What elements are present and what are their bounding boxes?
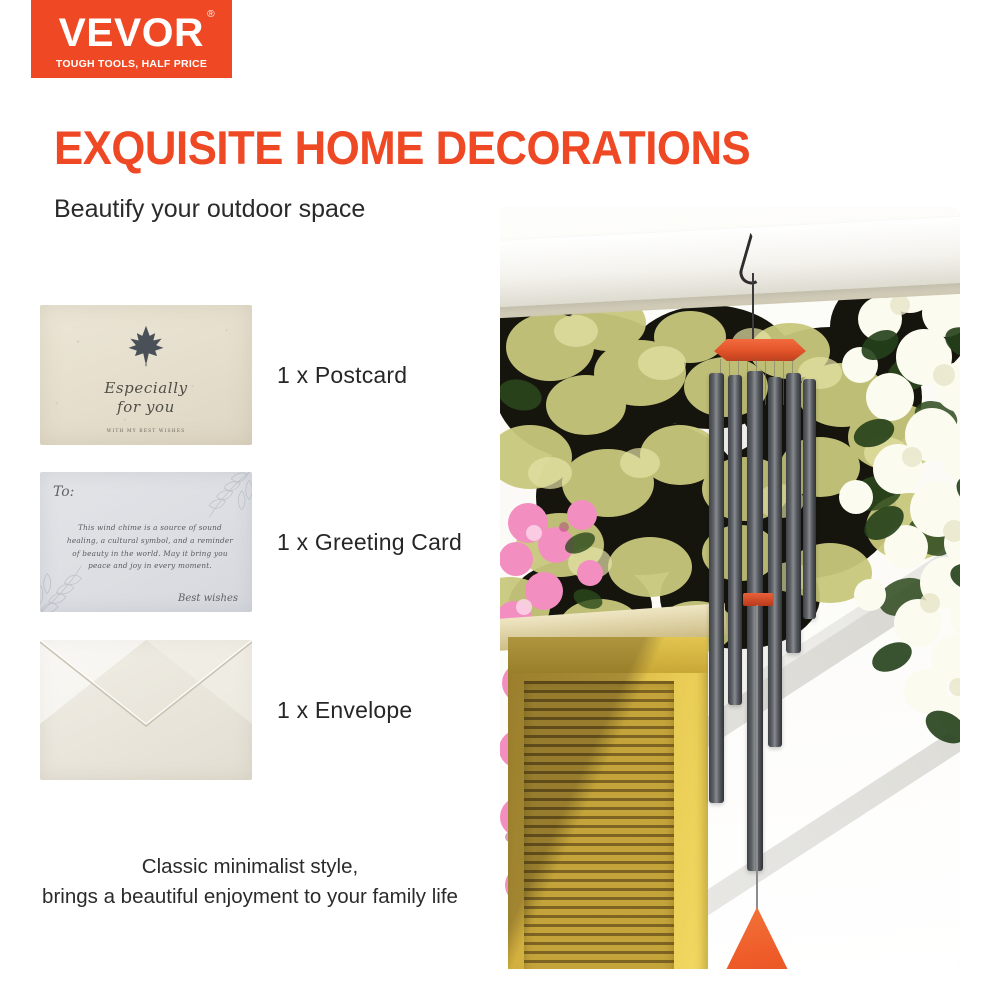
chime-tube xyxy=(768,377,782,747)
greeting-card-to-label: To: xyxy=(53,484,74,500)
postcard-script-line2: for you xyxy=(40,398,252,417)
chime-tube xyxy=(709,373,724,803)
chime-top-disc xyxy=(714,339,806,361)
greeting-card-image: To: This wind chime is a source of sound… xyxy=(40,472,252,612)
chime-tube xyxy=(803,379,816,619)
list-item: To: This wind chime is a source of sound… xyxy=(40,472,480,612)
greeting-card-message: This wind chime is a source of sound hea… xyxy=(66,522,234,573)
scene-yellow-shutter xyxy=(508,637,708,969)
postcard-image: Especially for you WITH MY BEST WISHES xyxy=(40,305,252,445)
shutter-shadow xyxy=(508,637,708,969)
chime-tube xyxy=(747,371,763,871)
accessory-label-envelope: 1 x Envelope xyxy=(277,697,412,724)
list-item: 1 x Envelope xyxy=(40,640,480,780)
accessory-label-greeting-card: 1 x Greeting Card xyxy=(277,529,462,556)
greeting-card-signoff: Best wishes xyxy=(178,593,238,604)
envelope-image xyxy=(40,640,252,780)
accessory-label-postcard: 1 x Postcard xyxy=(277,362,407,389)
postcard-fineprint: WITH MY BEST WISHES xyxy=(40,429,252,434)
chime-tube xyxy=(786,373,801,653)
chime-clapper xyxy=(743,593,773,606)
footer-caption-line1: Classic minimalist style, xyxy=(142,855,358,878)
chime-tube xyxy=(728,375,742,705)
list-item: Especially for you WITH MY BEST WISHES 1… xyxy=(40,305,480,445)
product-photo xyxy=(500,207,960,969)
footer-caption: Classic minimalist style, brings a beaut… xyxy=(0,852,500,911)
footer-caption-line2: brings a beautiful enjoyment to your fam… xyxy=(0,882,500,912)
included-accessories-list: Especially for you WITH MY BEST WISHES 1… xyxy=(0,0,500,1000)
chime-sail-cord xyxy=(756,605,758,915)
postcard-script-line1: Especially xyxy=(104,379,187,397)
photo-scene xyxy=(500,207,960,969)
maple-leaf-icon xyxy=(123,323,169,369)
postcard-script: Especially for you xyxy=(40,379,252,417)
envelope-crease-icon xyxy=(40,640,252,780)
